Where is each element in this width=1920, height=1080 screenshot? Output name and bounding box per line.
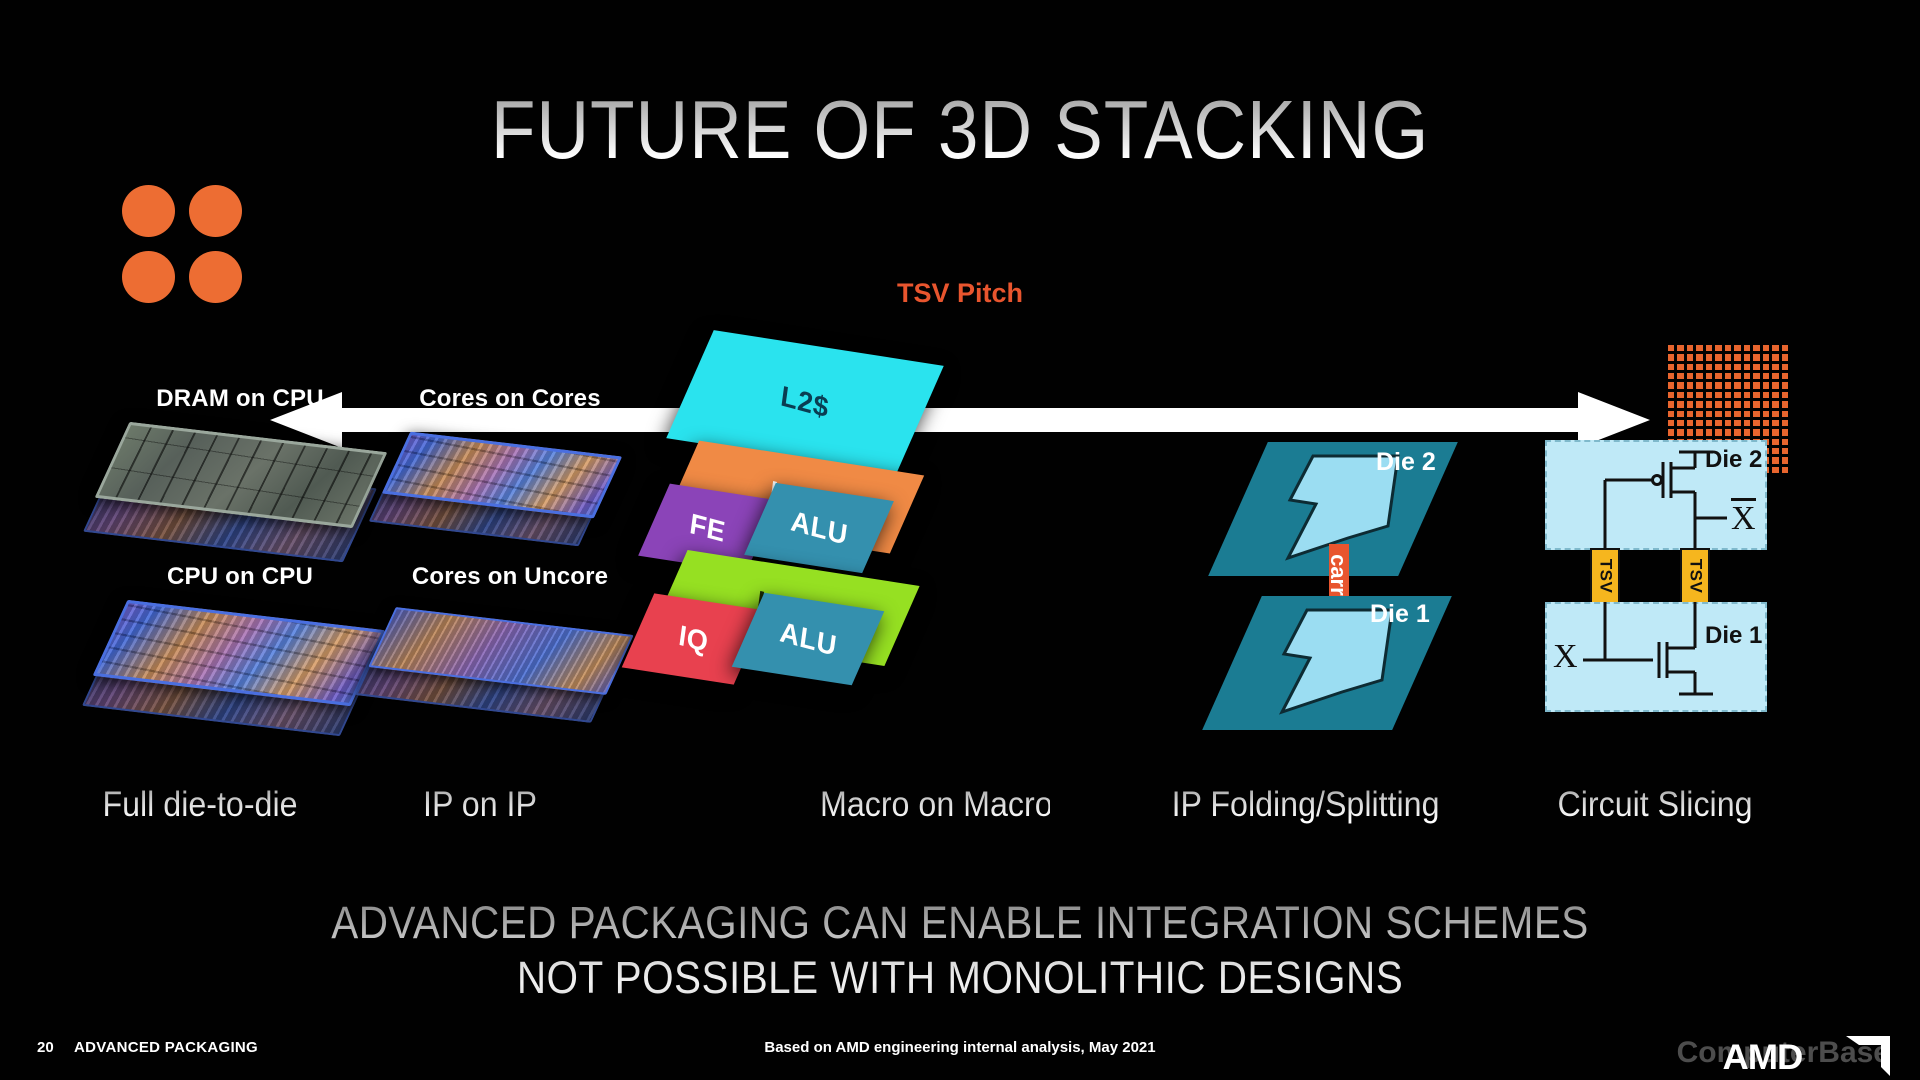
headline-line-2: NOT POSSIBLE WITH MONOLITHIC DESIGNS [96,950,1824,1005]
caption-ip-folding-splitting: IP Folding/Splitting [1172,785,1439,825]
tsv-dot [189,185,242,237]
slide-footer: 20 ADVANCED PACKAGING Based on AMD engin… [0,1030,1920,1080]
amd-wordmark: AMD [1722,1038,1802,1078]
fold-die-1-label: Die 1 [1370,600,1430,629]
macro-layer-label: FE [688,507,728,549]
amd-logo: AMD [1724,1032,1892,1076]
panel-macro-on-macro: L2$ L1$ FE ALU LSQ IQ ALU [630,340,990,760]
macro-layer-label: ALU [778,615,839,662]
caption-ip-on-ip: IP on IP [406,785,553,825]
panel-subtitle-cores-on-cores: Cores on Cores [340,385,680,413]
summary-headline: ADVANCED PACKAGING CAN ENABLE INTEGRATIO… [96,895,1824,1005]
fold-die-2-label: Die 2 [1376,448,1436,477]
tsv-via-left: TSV [1590,548,1620,604]
caption-circuit-slicing: Circuit Slicing [1549,785,1761,825]
macro-layer-label: L2$ [779,380,831,425]
headline-line-1: ADVANCED PACKAGING CAN ENABLE INTEGRATIO… [96,895,1824,950]
die-stack-cores-on-cores [360,430,660,550]
amd-arrow-icon [1846,1036,1890,1076]
slide-canvas: FUTURE OF 3D STACKING [0,0,1920,1080]
caption-macro-on-macro: Macro on Macro [820,785,1050,825]
output-signal-label: X [1731,498,1756,538]
tsv-dot [122,185,175,237]
macro-layer-label: IQ [677,619,711,659]
input-signal-label: X [1553,638,1578,676]
footer-source-note: Based on AMD engineering internal analys… [0,1039,1920,1056]
page-title: FUTURE OF 3D STACKING [115,82,1805,178]
tsv-pitch-label: TSV Pitch [0,278,1920,309]
panel-ip-on-ip: Cores on Cores Cores on Uncore [340,385,680,755]
macro-layer-label: ALU [789,504,850,551]
panel-subtitle-cores-on-uncore: Cores on Uncore [340,563,680,591]
caption-full-die-to-die: Full die-to-die [99,785,301,825]
panel-ip-folding-splitting: Die 2 carry Die 1 [1190,430,1460,760]
nmos-transistor-icon [1545,602,1767,712]
tsv-via-right: TSV [1680,548,1710,604]
panel-circuit-slicing: Die 2 X TSV TSV Die 1 [1545,440,1775,740]
